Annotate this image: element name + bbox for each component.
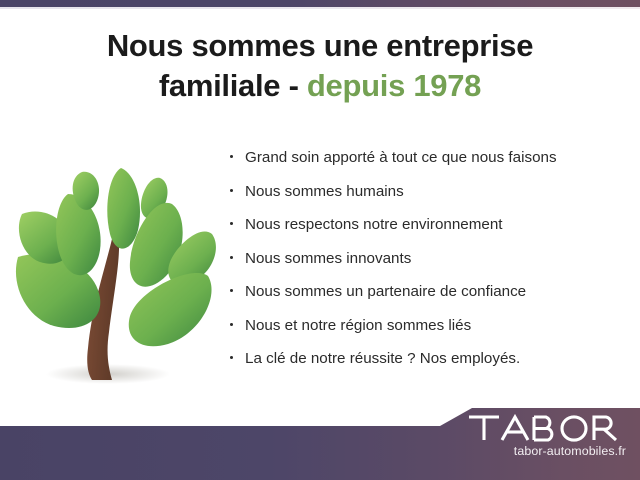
list-item-label: Nous sommes humains — [245, 183, 404, 200]
list-item: Nous et notre région sommes liés — [228, 317, 633, 334]
page-title-line1: Nous sommes une entreprise — [107, 28, 533, 63]
list-item-label: Nous et notre région sommes liés — [245, 317, 471, 334]
list-item: La clé de notre réussite ? Nos employés. — [228, 350, 633, 367]
top-accent-strip — [0, 0, 640, 7]
bullet-dot-icon — [230, 155, 233, 158]
list-item: Nous sommes innovants — [228, 250, 633, 267]
bullet-dot-icon — [230, 289, 233, 292]
logo-tagline: tabor-automobiles.fr — [466, 444, 626, 458]
list-item-label: Grand soin apporté à tout ce que nous fa… — [245, 149, 557, 166]
list-item: Grand soin apporté à tout ce que nous fa… — [228, 149, 633, 166]
list-item: Nous respectons notre environnement — [228, 216, 633, 233]
list-item-label: La clé de notre réussite ? Nos employés. — [245, 350, 520, 367]
bullet-dot-icon — [230, 323, 233, 326]
list-item: Nous sommes humains — [228, 183, 633, 200]
leaf-5 — [107, 168, 140, 249]
list-item-label: Nous sommes un partenaire de confiance — [245, 283, 526, 300]
page-title-accent: depuis 1978 — [307, 68, 481, 103]
bullet-dot-icon — [230, 222, 233, 225]
logo-wordmark — [466, 413, 626, 443]
tree-illustration — [12, 152, 224, 390]
bullet-dot-icon — [230, 256, 233, 259]
list-item-label: Nous respectons notre environnement — [245, 216, 503, 233]
page-title-line2-black: familiale - — [159, 68, 307, 103]
bullet-dot-icon — [230, 189, 233, 192]
top-accent-hairline — [0, 7, 640, 9]
bullet-dot-icon — [230, 356, 233, 359]
list-item: Nous sommes un partenaire de confiance — [228, 283, 633, 300]
page-title: Nous sommes une entreprise familiale - d… — [0, 26, 640, 105]
page-title-line2: familiale - depuis 1978 — [0, 66, 640, 106]
brand-logo[interactable]: tabor-automobiles.fr — [466, 413, 626, 458]
list-item-label: Nous sommes innovants — [245, 250, 411, 267]
slide-canvas: Nous sommes une entreprise familiale - d… — [0, 0, 640, 480]
benefits-list: Grand soin apporté à tout ce que nous fa… — [228, 149, 633, 384]
